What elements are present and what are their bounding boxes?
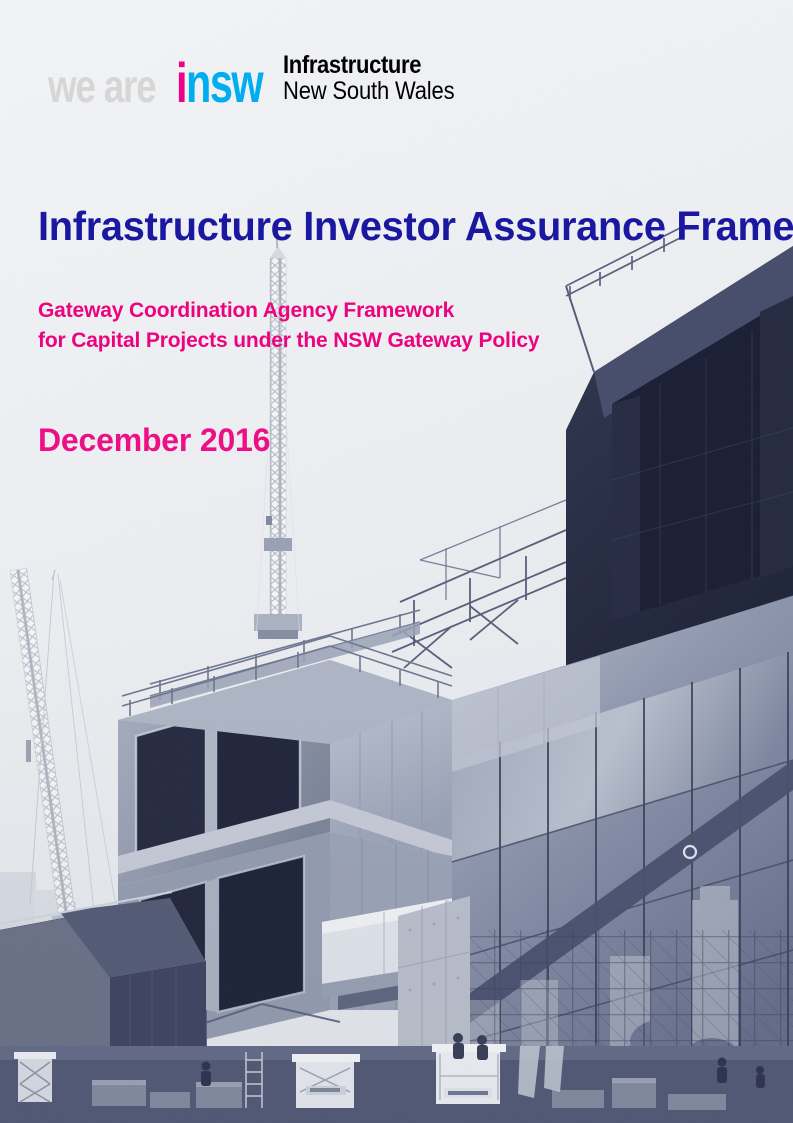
logo-wordmark: insw bbox=[176, 61, 262, 106]
logo-mark-i: i bbox=[176, 51, 186, 114]
cover-subtitle-line-1: Gateway Coordination Agency Framework bbox=[38, 296, 539, 326]
insw-logo-lockup: we are insw Infrastructure New South Wal… bbox=[48, 44, 477, 106]
cover-title: Infrastructure Investor Assurance Framew… bbox=[38, 206, 793, 247]
logo-organisation-name: Infrastructure New South Wales bbox=[283, 53, 454, 107]
logo-tagline: we are bbox=[48, 68, 155, 106]
cover-date: December 2016 bbox=[38, 424, 270, 456]
cover-photograph bbox=[0, 0, 793, 1123]
logo-mark-nsw: nsw bbox=[186, 51, 262, 114]
report-cover-page: we are insw Infrastructure New South Wal… bbox=[0, 0, 793, 1123]
construction-site-illustration bbox=[0, 0, 793, 1123]
cover-subtitle: Gateway Coordination Agency Framework fo… bbox=[38, 296, 539, 356]
cover-subtitle-line-2: for Capital Projects under the NSW Gatew… bbox=[38, 326, 539, 356]
logo-org-line-2: New South Wales bbox=[283, 78, 454, 104]
logo-org-line-1: Infrastructure bbox=[283, 53, 454, 79]
